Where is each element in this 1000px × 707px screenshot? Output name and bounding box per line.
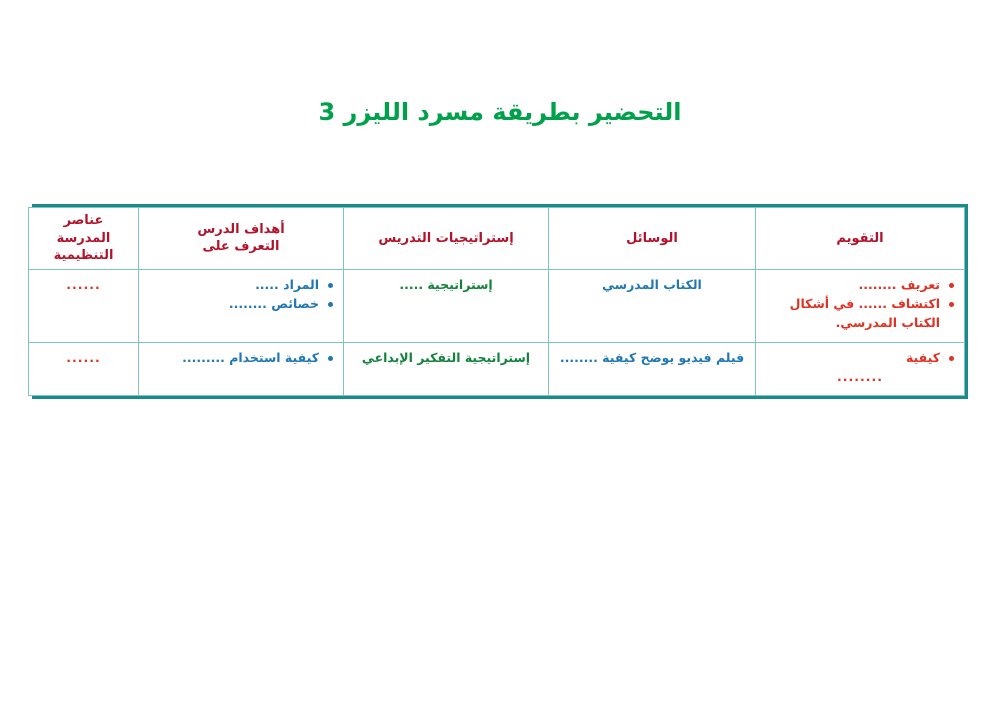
table-row: تعريف ........ اكتشاف ...... في أشكال ال… [29,269,965,342]
cell-media-row1: الكتاب المدرسي [549,269,756,342]
column-header-elements-line2: التنظيمية [35,247,132,265]
list-item: المراد ..... [147,276,335,295]
list-item: اكتشاف ...... في أشكال الكتاب المدرسي. [764,295,956,333]
assessment-dots-row2: ........ [764,368,956,387]
column-header-elements: عناصر المدرسة التنظيمية [29,208,139,270]
strategy-text-row1: إستراتيجية ..... [352,276,540,295]
cell-objectives-row1: المراد ..... خصائص ........ [139,269,344,342]
column-header-strategies: إستراتيجيات التدريس [344,208,549,270]
media-text-row2: فيلم فيديو يوضح كيفية ........ [557,349,747,368]
list-item: تعريف ........ [764,276,956,295]
objectives-list-row1: المراد ..... خصائص ........ [147,276,335,315]
table-row: كيفية ........ فيلم فيديو يوضح كيفية ...… [29,342,965,395]
page-title: التحضير بطريقة مسرد الليزر 3 [0,98,1000,127]
lesson-plan-table: التقويم الوسائل إستراتيجيات التدريس أهدا… [28,207,965,396]
assessment-list-row2: كيفية [764,349,956,368]
slide-canvas: التحضير بطريقة مسرد الليزر 3 التقويم الو… [0,0,1000,707]
list-item: كيفية استخدام ......... [147,349,335,368]
assessment-list-row1: تعريف ........ اكتشاف ...... في أشكال ال… [764,276,956,333]
table-header-row: التقويم الوسائل إستراتيجيات التدريس أهدا… [29,208,965,270]
cell-strategies-row2: إستراتيجية التفكير الإبداعي [344,342,549,395]
list-item: خصائص ........ [147,295,335,314]
cell-strategies-row1: إستراتيجية ..... [344,269,549,342]
column-header-media-label: الوسائل [626,231,678,246]
list-item: كيفية [764,349,956,368]
column-header-assessment-label: التقويم [836,231,883,246]
column-header-objectives-line2: التعرف على [145,238,337,256]
column-header-media: الوسائل [549,208,756,270]
cell-elements-row1: ...... [29,269,139,342]
elements-text-row1: ...... [37,276,130,295]
strategy-text-row2: إستراتيجية التفكير الإبداعي [352,349,540,368]
column-header-assessment: التقويم [756,208,965,270]
cell-assessment-row1: تعريف ........ اكتشاف ...... في أشكال ال… [756,269,965,342]
cell-assessment-row2: كيفية ........ [756,342,965,395]
objectives-list-row2: كيفية استخدام ......... [147,349,335,368]
lesson-plan-table-container: التقويم الوسائل إستراتيجيات التدريس أهدا… [32,204,968,399]
cell-media-row2: فيلم فيديو يوضح كيفية ........ [549,342,756,395]
media-text-row1: الكتاب المدرسي [557,276,747,295]
column-header-strategies-label: إستراتيجيات التدريس [378,231,513,246]
column-header-objectives-line1: أهداف الدرس [145,221,337,239]
column-header-elements-line1: عناصر المدرسة [35,212,132,247]
column-header-objectives: أهداف الدرس التعرف على [139,208,344,270]
cell-objectives-row2: كيفية استخدام ......... [139,342,344,395]
elements-text-row2: ...... [37,349,130,368]
cell-elements-row2: ...... [29,342,139,395]
